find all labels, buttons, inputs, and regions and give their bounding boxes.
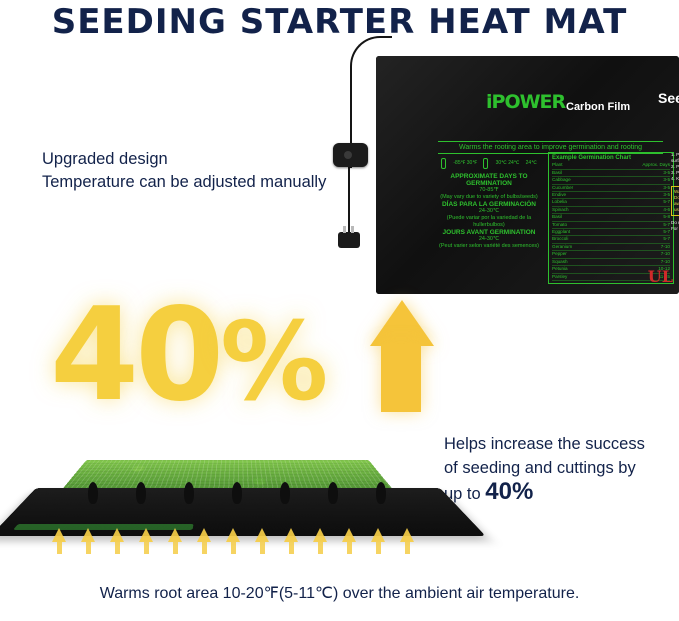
big-percentage-symbol: % (220, 300, 324, 425)
cell-plant: Broccoli (552, 236, 603, 243)
heat-arrow-stem-icon (347, 542, 352, 554)
table-row: Cabbage3-5 (552, 177, 670, 184)
cell-plant: Spinach (552, 206, 603, 213)
heat-arrow-stem-icon (289, 542, 294, 554)
temp-mark-1: -85℉ 30℉ (453, 160, 477, 167)
up-arrow-icon (370, 300, 434, 346)
temperature-marks: -85℉ 30℉ 30℃ 24℃ 24℃ (438, 158, 540, 169)
cell-days: 3-5 (603, 169, 670, 176)
plant-cluster-icon (184, 482, 194, 504)
germination-fr-note: (Peut varier selon variété des semences) (438, 243, 540, 250)
germination-fr-title: JOURS AVANT GERMINATION (438, 229, 540, 236)
heat-arrow-icon (110, 528, 124, 542)
cell-plant: Cucumber (552, 184, 603, 191)
heat-arrow-stem-icon (376, 542, 381, 554)
cell-days: 5-7 (603, 236, 670, 243)
table-row: Tomato5-7 (552, 221, 670, 228)
germination-en-title: APPROXIMATE DAYS TO GERMINATION (438, 173, 540, 187)
feature-copy-right-line1: Helps increase the success (444, 432, 674, 456)
germination-es-title: DÍAS PARA LA GERMINACIÓN (438, 201, 540, 208)
col-plant: Plant (552, 162, 603, 169)
heat-arrow-icon (255, 528, 269, 542)
plant-cluster-icon (136, 482, 146, 504)
cell-plant: Lobelia (552, 199, 603, 206)
cell-plant: Squash (552, 258, 603, 265)
plant-cluster-icon (376, 482, 386, 504)
heat-arrow-icon (81, 528, 95, 542)
power-cord-lower (348, 165, 350, 235)
cell-plant: Endive (552, 192, 603, 199)
brand-logo: iPOWER (486, 91, 565, 113)
thermometer-icon (441, 158, 446, 169)
tray-illustration (30, 430, 450, 570)
ul-certification-mark: UL (648, 267, 673, 286)
col-days: Approx. Days (603, 162, 670, 169)
table-row: Endive3-5 (552, 192, 670, 199)
heat-arrow-stem-icon (144, 542, 149, 554)
controller-knob-icon (344, 151, 352, 159)
heat-arrow-icon (139, 528, 153, 542)
cell-days: 3-5 (603, 192, 670, 199)
cell-plant: Eggplant (552, 229, 603, 236)
mat-green-label (13, 524, 194, 530)
table-row: Broccoli5-7 (552, 236, 670, 243)
cell-days: 7-10 (603, 251, 670, 258)
cell-days: 4-6 (603, 206, 670, 213)
table-row: Eggplant5-7 (552, 229, 670, 236)
table-row: Basil3-5 (552, 169, 670, 176)
heat-arrow-icon (342, 528, 356, 542)
heat-arrow-stem-icon (318, 542, 323, 554)
cell-plant: Petunia (552, 266, 603, 273)
carbon-film-label: Carbon Film (566, 101, 630, 113)
big-percentage-stat: 40% (50, 296, 324, 423)
warning-box: WARNING Do not immerse in water. Keep aw… (671, 186, 679, 216)
cell-days: 7-10 (603, 258, 670, 265)
heat-arrow-stem-icon (115, 542, 120, 554)
germination-chart-table: PlantApprox. DaysBasil3-5Cabbage3-5Cucum… (552, 162, 670, 281)
heat-arrow-stem-icon (173, 542, 178, 554)
table-row: Spinach4-6 (552, 206, 670, 213)
page-title: SEEDING STARTER HEAT MAT (0, 2, 679, 42)
cell-days: 7-10 (603, 243, 670, 250)
germination-es-note: (Puede variar por la variedad de la hull… (438, 215, 540, 229)
cell-plant: Geranium (552, 243, 603, 250)
plant-cluster-icon (280, 482, 290, 504)
feature-copy-left: Upgraded design Temperature can be adjus… (42, 148, 326, 194)
table-row: Geranium7-10 (552, 243, 670, 250)
brand-logo-text: iPOWER (486, 91, 565, 113)
cell-plant: Tomato (552, 221, 603, 228)
cell-plant: Cabbage (552, 177, 603, 184)
footer-note: Warms root area 10-20℉(5-11℃) over the a… (0, 583, 679, 603)
table-row: Pepper7-10 (552, 251, 670, 258)
heat-arrow-stem-icon (202, 542, 207, 554)
feature-copy-right-line2: of seeding and cuttings by (444, 456, 674, 480)
heat-arrow-stem-icon (405, 542, 410, 554)
cell-plant: Parsley (552, 273, 603, 280)
feature-copy-right-line3: up to 40% (444, 480, 674, 506)
heat-arrow-stem-icon (231, 542, 236, 554)
seed-size-label: Seed 48" (658, 90, 679, 106)
heat-arrow-icon (313, 528, 327, 542)
heat-arrow-icon (400, 528, 414, 542)
cell-days: 3-5 (603, 177, 670, 184)
heat-arrow-icon (197, 528, 211, 542)
heat-arrow-stem-icon (260, 542, 265, 554)
cell-days: 5-7 (603, 229, 670, 236)
heat-arrow-icon (284, 528, 298, 542)
germination-chart-title: Example Germination Chart (552, 155, 670, 161)
germination-chart-header-row: PlantApprox. Days (552, 162, 670, 169)
instructions-outro: Do not use the mat to heat liquids. For … (671, 220, 679, 232)
cell-days: 5-8 (603, 214, 670, 221)
cell-days: 3-5 (603, 184, 670, 191)
cell-plant: Basil (552, 169, 603, 176)
heat-arrow-icon (371, 528, 385, 542)
thermometer-icon-2 (483, 158, 488, 169)
heat-arrow-icon (168, 528, 182, 542)
heat-arrow-stem-icon (86, 542, 91, 554)
warning-body: Do not immerse in water. Keep away from … (674, 195, 679, 213)
germination-fr-value: 24-30℃ (438, 236, 540, 243)
heat-arrow-icon (226, 528, 240, 542)
feature-copy-left-line1: Upgraded design (42, 148, 326, 171)
table-row: Basil5-8 (552, 214, 670, 221)
feature-copy-right-value: 40% (485, 478, 533, 505)
table-row: Cucumber3-5 (552, 184, 670, 191)
instructions-right-column: 1. Place the heat mat on a flat, dry sur… (671, 152, 679, 232)
product-photo-heat-mat: iPOWER Carbon Film Seed 48" Warms the ro… (376, 56, 679, 294)
temp-mark-2: 30℃ 24℃ (496, 160, 520, 167)
power-plug-icon (338, 232, 360, 248)
germination-instructions-panel: -85℉ 30℉ 30℃ 24℃ 24℃ APPROXIMATE DAYS TO… (438, 156, 540, 250)
up-arrow-stem-icon (381, 344, 421, 412)
feature-copy-left-line2: Temperature can be adjusted manually (42, 171, 326, 194)
temperature-controller (333, 143, 368, 167)
cell-plant: Basil (552, 214, 603, 221)
germination-en-value: 70-85℉ (438, 187, 540, 194)
germination-en-note: (May vary due to variety of bulbs/seeds) (438, 194, 540, 201)
cell-days: 5-7 (603, 199, 670, 206)
germination-es-value: 24-30℃ (438, 208, 540, 215)
feature-copy-right: Helps increase the success of seeding an… (444, 432, 674, 506)
plant-cluster-icon (88, 482, 98, 504)
cell-days: 5-7 (603, 221, 670, 228)
cell-plant: Pepper (552, 251, 603, 258)
big-percentage-number: 40 (50, 281, 220, 430)
instructions-intro: 1. Place the heat mat on a flat, dry sur… (671, 152, 679, 182)
table-row: Lobelia5-7 (552, 199, 670, 206)
plant-cluster-icon (232, 482, 242, 504)
plant-cluster-icon (328, 482, 338, 504)
germination-chart: Example Germination Chart PlantApprox. D… (548, 152, 674, 284)
heat-arrow-icon (52, 528, 66, 542)
temp-mark-3: 24℃ (526, 160, 537, 167)
heat-arrow-stem-icon (57, 542, 62, 554)
table-row: Squash7-10 (552, 258, 670, 265)
